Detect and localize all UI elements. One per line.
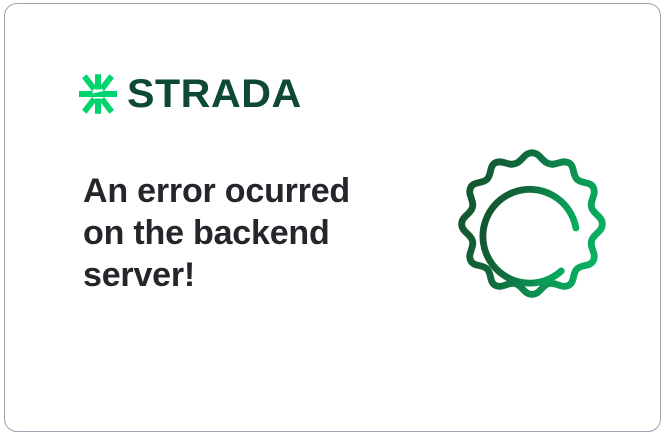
error-card: STRADA An error ocurred on the backend s…	[4, 3, 661, 432]
error-page-screen: STRADA An error ocurred on the backend s…	[0, 0, 666, 436]
gear-cog-icon	[449, 142, 615, 312]
brand-wordmark: STRADA	[127, 74, 302, 114]
error-heading: An error ocurred on the backend server!	[83, 170, 373, 296]
brand-logo: STRADA	[79, 72, 297, 116]
strada-asterisk-icon	[79, 74, 117, 114]
gear-illustration	[449, 142, 615, 312]
